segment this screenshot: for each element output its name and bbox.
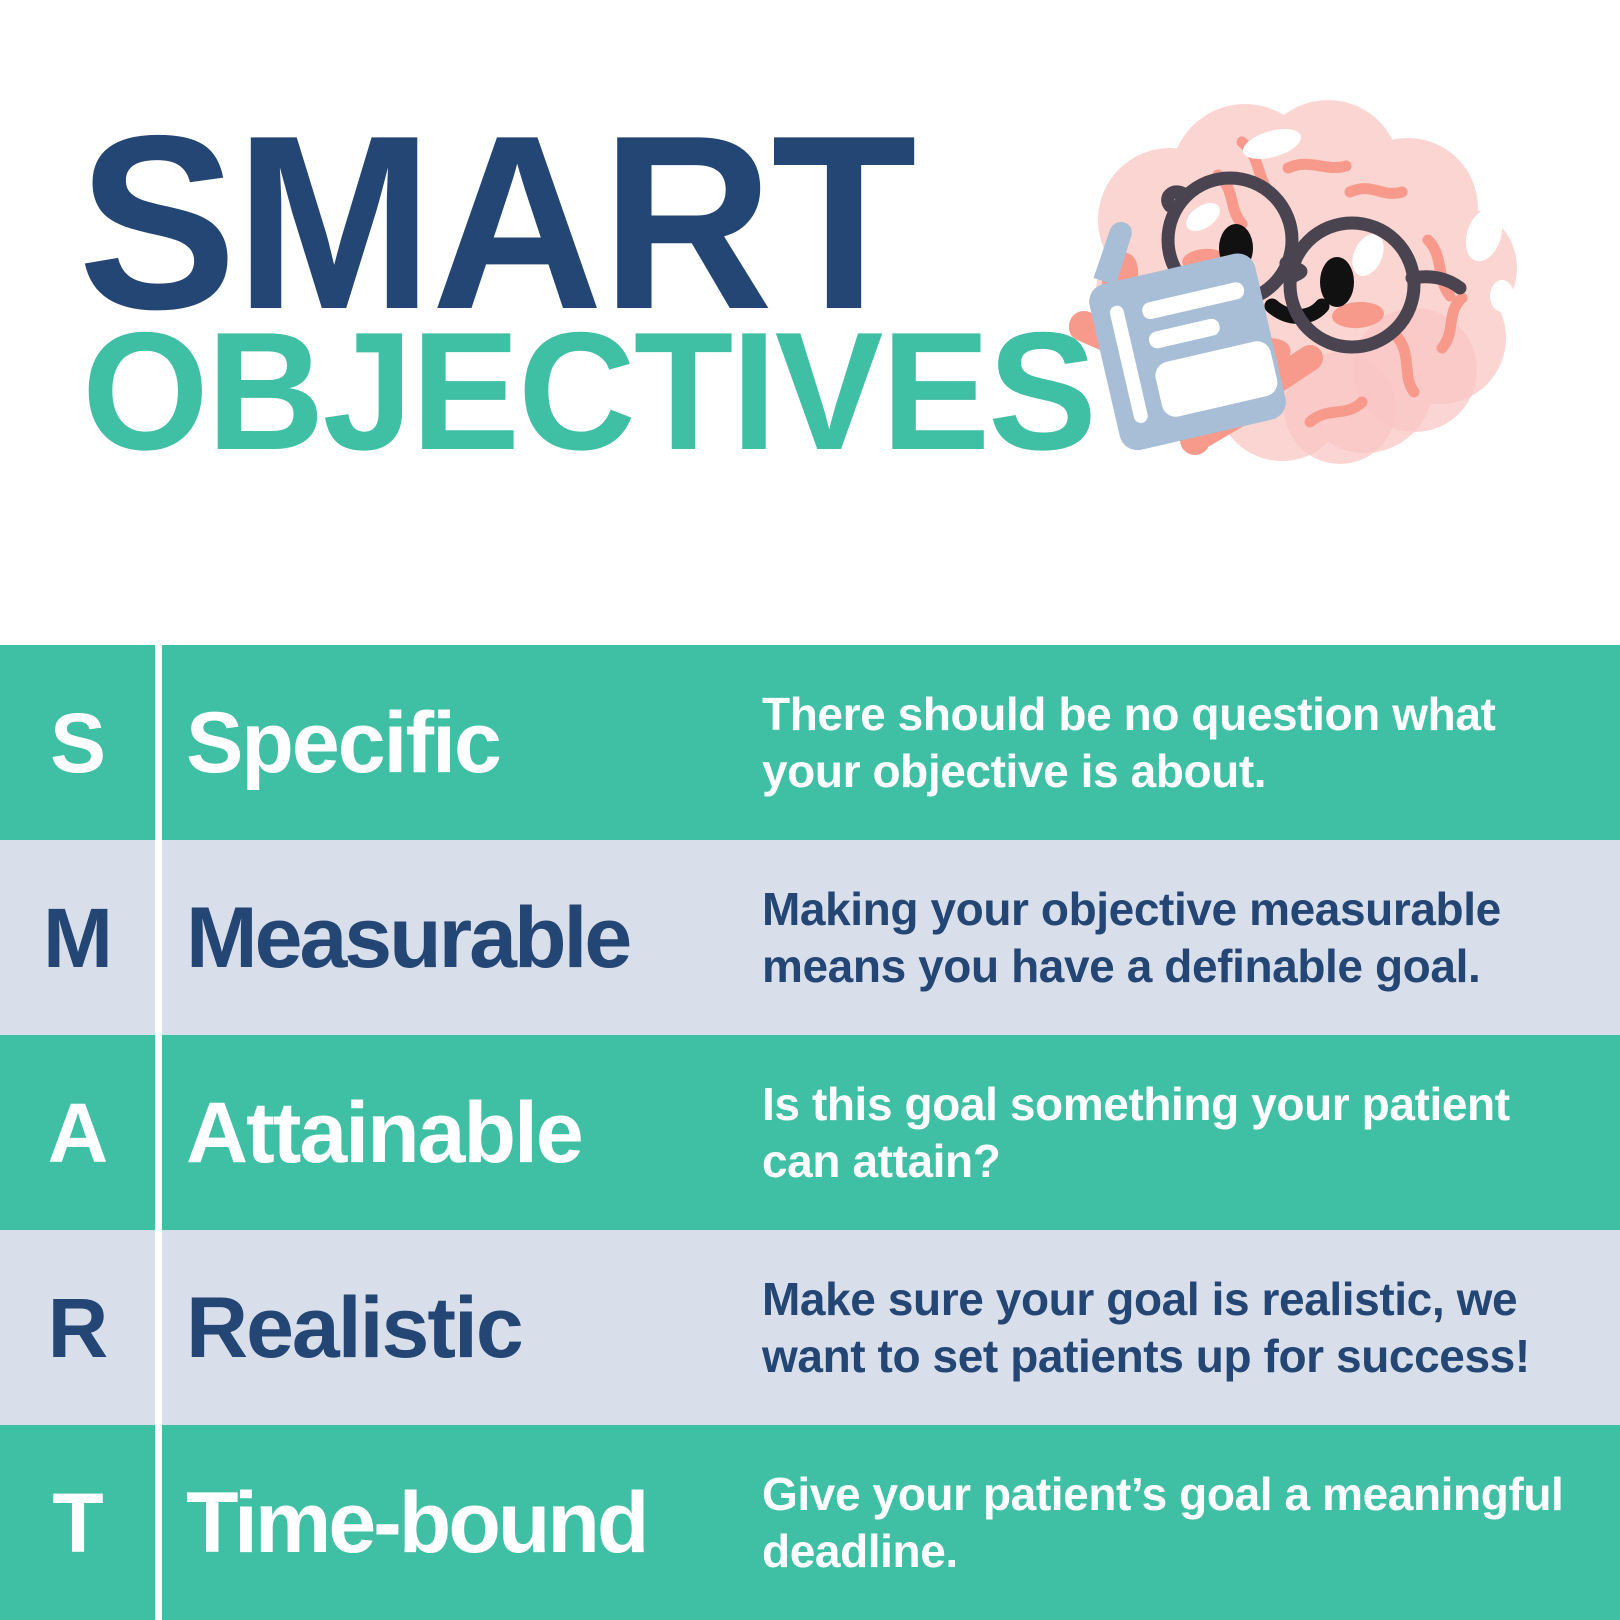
row-word: Attainable: [162, 1090, 762, 1176]
row-letter: R: [0, 1286, 155, 1370]
row-word: Measurable: [162, 895, 762, 981]
row-description: There should be no question what your ob…: [762, 686, 1620, 798]
row-letter: M: [0, 896, 155, 980]
page-title: SMART OBJECTIVES: [78, 108, 1078, 469]
row-divider: [155, 645, 162, 840]
table-row: R Realistic Make sure your goal is reali…: [0, 1230, 1620, 1425]
row-divider: [155, 1230, 162, 1425]
table-row: S Specific There should be no question w…: [0, 645, 1620, 840]
row-description: Make sure your goal is realistic, we wan…: [762, 1271, 1620, 1383]
table-row: T Time-bound Give your patient’s goal a …: [0, 1425, 1620, 1620]
row-word: Specific: [162, 700, 762, 786]
row-letter: S: [0, 701, 155, 785]
row-word: Realistic: [162, 1285, 762, 1371]
row-description: Is this goal something your patient can …: [762, 1076, 1620, 1188]
brain-mascot-illustration: [1010, 100, 1530, 500]
row-divider: [155, 1035, 162, 1230]
title-line-objectives: OBJECTIVES: [82, 314, 1048, 469]
header-section: SMART OBJECTIVES: [0, 0, 1620, 645]
smart-objectives-table: S Specific There should be no question w…: [0, 645, 1620, 1620]
row-description: Give your patient’s goal a meaningful de…: [762, 1466, 1620, 1578]
row-divider: [155, 840, 162, 1035]
table-row: M Measurable Making your objective measu…: [0, 840, 1620, 1035]
table-row: A Attainable Is this goal something your…: [0, 1035, 1620, 1230]
row-word: Time-bound: [162, 1480, 762, 1566]
row-letter: A: [0, 1091, 155, 1175]
row-letter: T: [0, 1481, 155, 1565]
row-description: Making your objective measurable means y…: [762, 881, 1620, 993]
row-divider: [155, 1425, 162, 1620]
